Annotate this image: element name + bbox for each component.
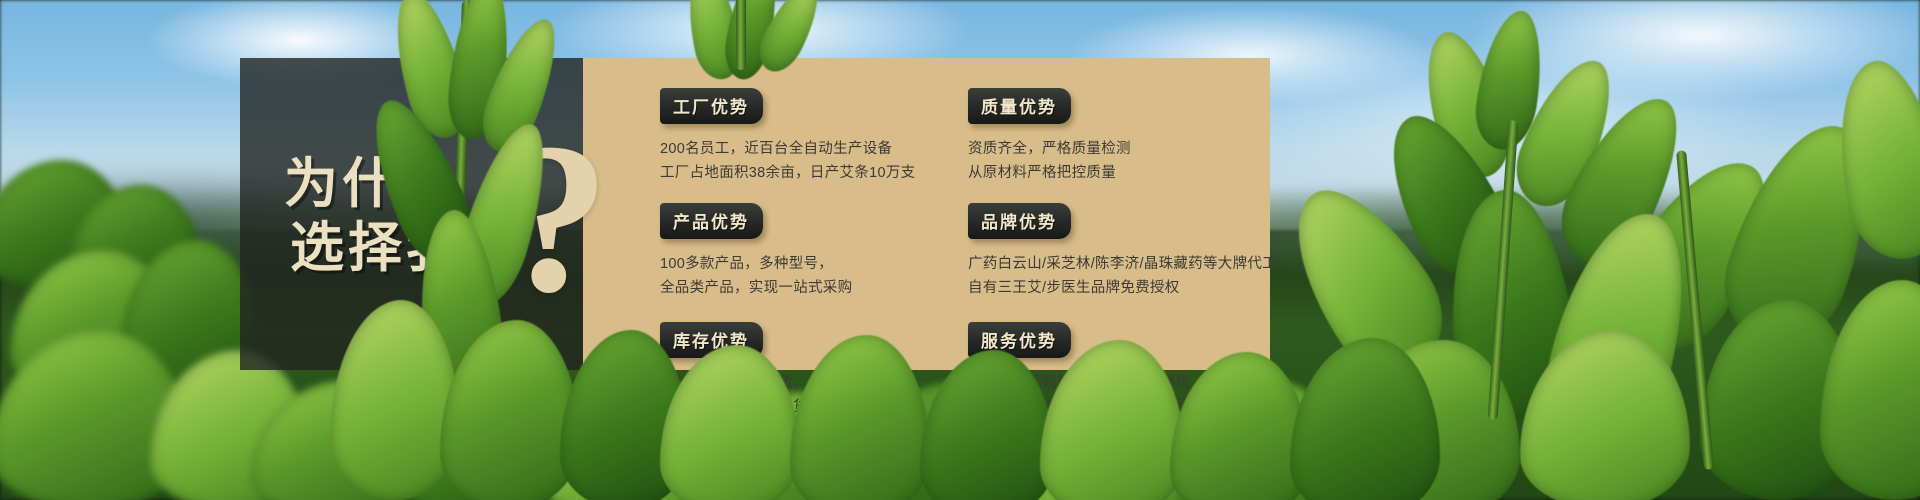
advantage-block-product: 产品优势 100多款产品，多种型号， 全品类产品，实现一站式采购 [660,203,980,300]
advantage-columns: 工厂优势 200名员工，近百台全自动生产设备 工厂占地面积38余亩，日产艾条10… [583,58,1270,370]
advantage-block-brand: 品牌优势 广药白云山/采芝林/陈李济/晶珠藏药等大牌代工， 自有三王艾/步医生品… [968,203,1288,300]
advantage-line: 100多款产品，多种型号， [660,252,980,276]
advantage-line: 200名员工，近百台全自动生产设备 [660,137,980,161]
status-badge: 品牌优势 [968,203,1071,239]
advantage-line: 全品类产品，实现一站式采购 [660,276,980,300]
advantage-line: 资质齐全，严格质量检测 [968,137,1288,161]
status-badge: 产品优势 [660,203,763,239]
advantage-body: 100多款产品，多种型号， 全品类产品，实现一站式采购 [660,252,980,300]
advantage-line: 广药白云山/采芝林/陈李济/晶珠藏药等大牌代工， [968,252,1288,276]
advantage-block-factory: 工厂优势 200名员工，近百台全自动生产设备 工厂占地面积38余亩，日产艾条10… [660,88,980,185]
advantage-line: 工厂占地面积38余亩，日产艾条10万支 [660,161,980,185]
advantage-body: 200名员工，近百台全自动生产设备 工厂占地面积38余亩，日产艾条10万支 [660,137,980,185]
status-badge: 质量优势 [968,88,1071,124]
advantage-body: 资质齐全，严格质量检测 从原材料严格把控质量 [968,137,1288,185]
status-badge: 工厂优势 [660,88,763,124]
banner-stage: 为什么 选择我们 ? 工厂优势 200名员工，近百台全自动生产设备 工厂占地面积… [0,0,1920,500]
advantage-line: 从原材料严格把控质量 [968,161,1288,185]
advantage-block-quality: 质量优势 资质齐全，严格质量检测 从原材料严格把控质量 [968,88,1288,185]
advantage-line: 自有三王艾/步医生品牌免费授权 [968,276,1288,300]
advantage-body: 广药白云山/采芝林/陈李济/晶珠藏药等大牌代工， 自有三王艾/步医生品牌免费授权 [968,252,1288,300]
